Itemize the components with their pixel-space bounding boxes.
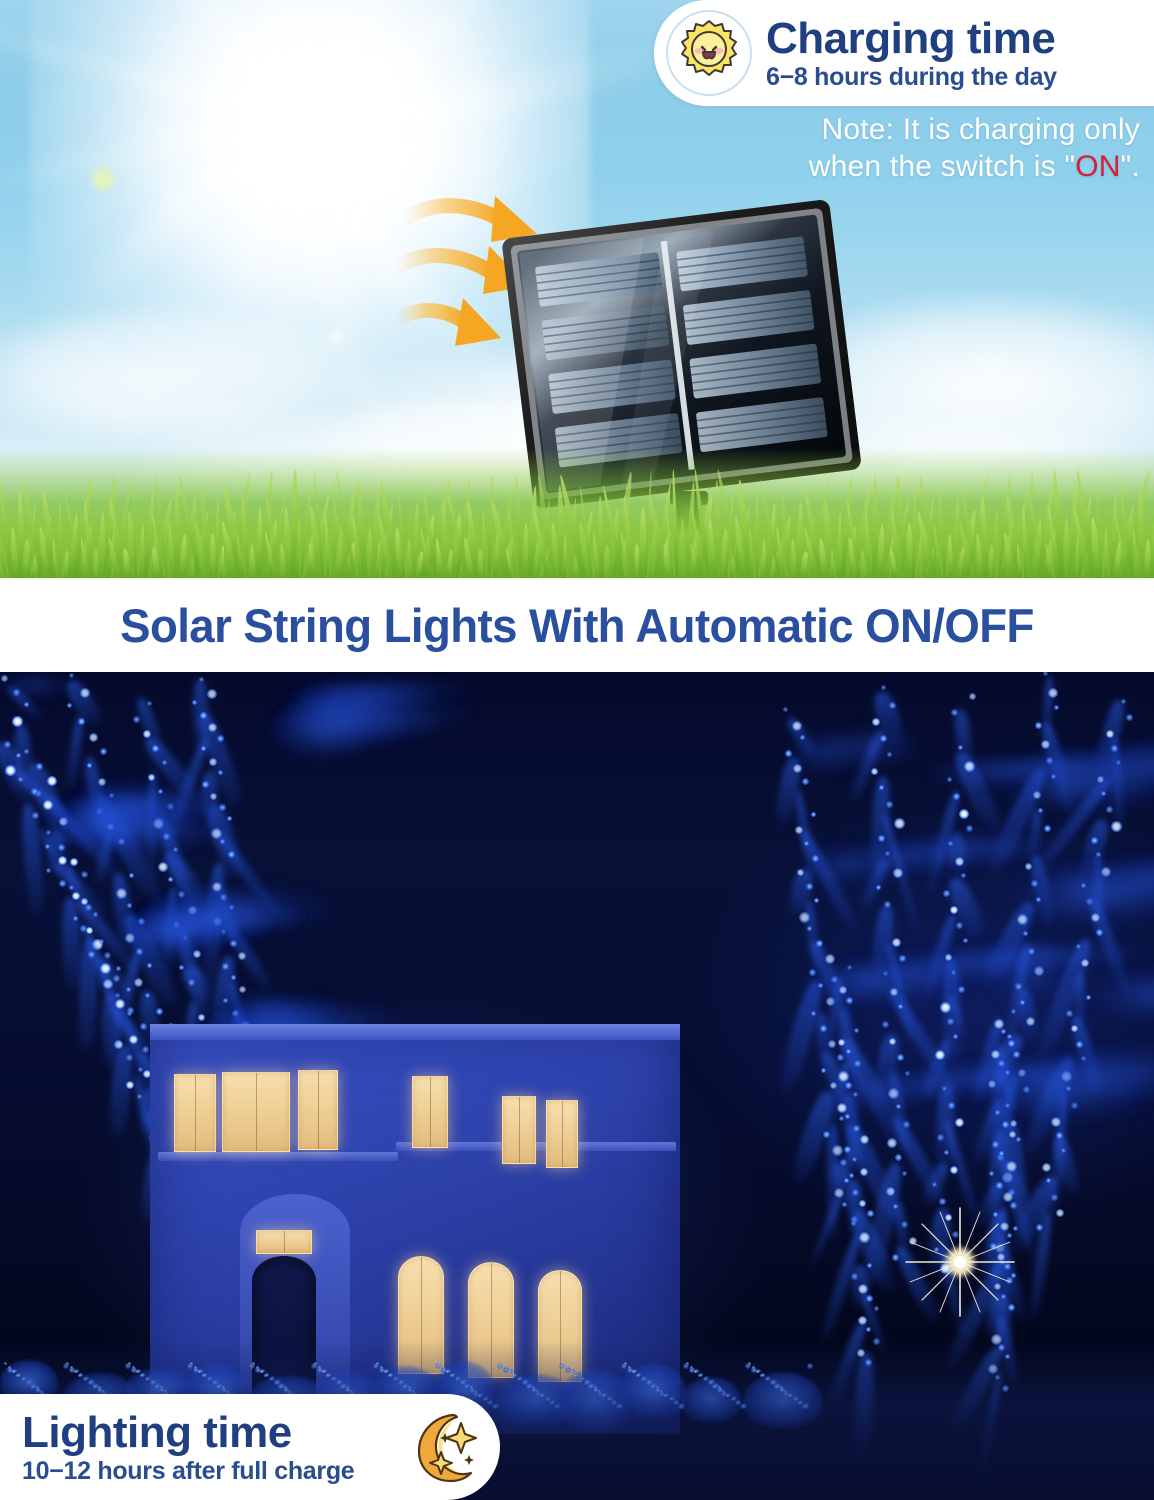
led-light: [1044, 825, 1051, 832]
led-light: [78, 718, 85, 725]
branch: [61, 897, 82, 990]
charging-time-title: Charging time: [766, 17, 1057, 61]
led-light: [902, 1171, 907, 1176]
led-light: [116, 888, 127, 899]
led-light: [866, 1295, 873, 1302]
led-light: [127, 903, 132, 908]
led-light: [192, 700, 197, 705]
led-light: [32, 812, 39, 819]
led-light: [158, 862, 168, 872]
led-light: [838, 1039, 845, 1046]
charging-text-group: Charging time 6−8 hours during the day: [766, 17, 1057, 90]
led-light: [5, 765, 16, 776]
crescent-moon-stars-icon: [400, 1402, 490, 1492]
led-light: [67, 703, 72, 708]
led-light: [1011, 1009, 1016, 1014]
led-light: [59, 880, 66, 887]
note-line-2-after: ".: [1121, 150, 1140, 183]
led-light: [860, 1168, 868, 1176]
led-light: [126, 1081, 134, 1089]
led-light: [816, 940, 823, 947]
led-light: [886, 801, 893, 808]
led-light: [143, 730, 151, 738]
led-light: [1121, 699, 1126, 704]
led-light: [889, 1038, 896, 1045]
led-light: [867, 1263, 872, 1268]
roof-edge: [150, 1024, 680, 1040]
led-light: [892, 938, 901, 947]
led-light: [894, 818, 905, 829]
window: [502, 1096, 536, 1164]
charging-time-subtitle: 6−8 hours during the day: [766, 65, 1057, 90]
led-light: [852, 1157, 857, 1162]
led-light: [238, 952, 246, 960]
led-light: [1054, 705, 1059, 710]
led-light: [889, 702, 896, 709]
led-light: [852, 1189, 859, 1196]
led-light: [88, 951, 95, 958]
led-light: [1026, 1017, 1035, 1026]
led-light: [12, 716, 23, 727]
led-light: [73, 916, 78, 921]
led-light: [168, 877, 173, 882]
led-light: [207, 689, 217, 699]
led-light: [85, 904, 92, 911]
led-light: [792, 721, 802, 731]
led-light: [866, 1327, 871, 1332]
led-light: [1042, 1163, 1051, 1172]
led-light: [834, 1188, 844, 1198]
led-light: [218, 770, 223, 775]
smiling-sun-icon: [666, 10, 752, 96]
charging-time-badge: Charging time 6−8 hours during the day: [654, 0, 1154, 106]
led-light: [842, 1202, 847, 1207]
led-light: [1009, 1131, 1016, 1138]
led-light: [844, 1178, 849, 1183]
led-light: [944, 1150, 949, 1155]
led-light: [58, 856, 67, 865]
led-light: [126, 987, 131, 992]
led-light: [99, 939, 104, 944]
led-light: [179, 965, 184, 970]
led-light: [881, 685, 886, 690]
window: [298, 1070, 338, 1150]
led-light: [950, 906, 958, 914]
led-light: [867, 1210, 874, 1217]
led-light: [853, 1125, 860, 1132]
led-light: [147, 963, 152, 968]
led-light: [992, 1141, 999, 1148]
led-light: [953, 793, 960, 800]
led-light: [876, 885, 881, 890]
led-light: [943, 890, 950, 897]
led-light: [823, 1131, 830, 1138]
led-light: [804, 841, 809, 846]
window: [412, 1076, 448, 1148]
led-light: [1061, 1148, 1066, 1153]
led-light: [228, 851, 235, 858]
light-flare-icon: [900, 1202, 1020, 1322]
note-line-1: Note: It is charging only: [822, 113, 1141, 146]
branch: [19, 802, 46, 916]
window: [174, 1074, 216, 1152]
led-light: [845, 1114, 850, 1119]
led-light: [72, 892, 80, 900]
led-light: [947, 1018, 954, 1025]
led-light: [963, 938, 968, 943]
led-light: [806, 883, 813, 890]
lens-flare-dot: [330, 330, 344, 344]
pine-foliage: [807, 843, 880, 888]
led-light: [217, 735, 224, 742]
led-light: [958, 745, 963, 750]
led-light: [1043, 672, 1048, 676]
pine-foliage: [268, 704, 374, 762]
led-light: [953, 1034, 958, 1039]
note-on-highlight: ON: [1075, 150, 1120, 183]
led-light: [1056, 1209, 1064, 1217]
pine-foliage: [116, 916, 208, 954]
led-light: [147, 701, 152, 706]
led-light: [200, 712, 207, 719]
pine-foliage: [843, 1071, 920, 1112]
led-light: [36, 763, 43, 770]
led-light: [897, 1054, 904, 1061]
led-light: [871, 768, 878, 775]
led-light: [814, 898, 819, 903]
product-infographic: Charging time 6−8 hours during the day N…: [0, 0, 1154, 1500]
led-light: [969, 693, 976, 700]
led-light: [991, 1050, 1000, 1059]
led-light: [854, 1028, 859, 1033]
led-light: [239, 986, 246, 993]
led-light: [129, 873, 134, 878]
sun-glyph: [673, 17, 745, 89]
led-light: [80, 688, 90, 698]
led-light: [955, 1118, 964, 1127]
led-light: [811, 812, 816, 817]
facade-band: [158, 1152, 398, 1161]
led-light: [1008, 1040, 1015, 1047]
led-light: [156, 1008, 163, 1015]
illuminated-house-night-scene: [0, 672, 1154, 1500]
led-light: [89, 733, 98, 742]
led-light: [198, 1014, 205, 1021]
led-light: [100, 748, 107, 755]
moon-glyph: [405, 1407, 485, 1487]
led-light: [802, 778, 809, 785]
led-light: [783, 707, 788, 712]
lens-flare-dot: [92, 168, 114, 190]
led-light: [129, 1035, 138, 1044]
led-light: [895, 1154, 902, 1161]
headline-banner: Solar String Lights With Automatic ON/OF…: [0, 578, 1154, 672]
pine-foliage: [42, 810, 206, 858]
led-light: [81, 871, 88, 878]
pine-foliage: [789, 729, 860, 776]
led-light: [882, 1021, 889, 1028]
led-light: [133, 716, 140, 723]
led-light: [142, 1046, 149, 1053]
led-light: [199, 677, 204, 682]
lighting-time-badge: Lighting time 10−12 hours after full cha…: [0, 1394, 500, 1500]
pine-foliage: [793, 961, 970, 1008]
led-light: [879, 785, 884, 790]
page-title: Solar String Lights With Automatic ON/OF…: [120, 598, 1034, 653]
pine-foliage: [1089, 969, 1154, 1024]
led-light: [956, 922, 963, 929]
led-light: [1066, 1010, 1073, 1017]
led-light: [134, 978, 143, 987]
led-light: [1025, 863, 1032, 870]
led-light: [145, 993, 150, 998]
led-light: [859, 1200, 866, 1207]
led-light: [859, 1232, 870, 1243]
led-light: [851, 1273, 858, 1280]
led-light: [87, 763, 92, 768]
led-light: [1126, 714, 1133, 721]
led-light: [961, 873, 966, 878]
lighting-time-title: Lighting time: [22, 1411, 400, 1455]
led-light: [832, 1145, 843, 1156]
window: [546, 1100, 578, 1168]
window: [222, 1072, 290, 1152]
led-light: [86, 927, 93, 934]
led-light: [874, 1306, 879, 1311]
note-line-2-before: when the switch is ": [809, 150, 1075, 183]
led-light: [4, 741, 11, 748]
led-light: [127, 1011, 132, 1016]
led-light: [1023, 931, 1028, 936]
lighting-text-group: Lighting time 10−12 hours after full cha…: [22, 1411, 400, 1484]
led-light: [70, 858, 78, 866]
led-light: [820, 1025, 827, 1032]
led-light: [1051, 1194, 1058, 1201]
led-light: [231, 975, 236, 980]
pine-foliage: [925, 757, 1060, 788]
led-light: [69, 673, 74, 678]
led-light: [854, 1060, 861, 1067]
charging-note: Note: It is charging only when the switc…: [720, 112, 1140, 185]
lighting-time-subtitle: 10−12 hours after full charge: [22, 1459, 400, 1484]
branch: [64, 715, 84, 790]
led-light: [996, 1182, 1003, 1189]
transom-window: [256, 1230, 312, 1254]
led-light: [1002, 1121, 1009, 1128]
led-light: [903, 1121, 910, 1128]
led-light: [162, 760, 167, 765]
led-light: [1096, 929, 1103, 936]
led-light: [115, 999, 125, 1009]
led-light: [1003, 1192, 1013, 1202]
led-light: [994, 1019, 1004, 1029]
led-light: [47, 776, 57, 786]
led-light: [959, 809, 969, 819]
led-light: [18, 777, 23, 782]
led-light: [799, 912, 810, 923]
pine-foliage: [0, 672, 70, 698]
led-light: [825, 954, 835, 964]
led-light: [1048, 688, 1058, 698]
led-light: [838, 1071, 849, 1082]
led-light: [140, 1023, 147, 1030]
